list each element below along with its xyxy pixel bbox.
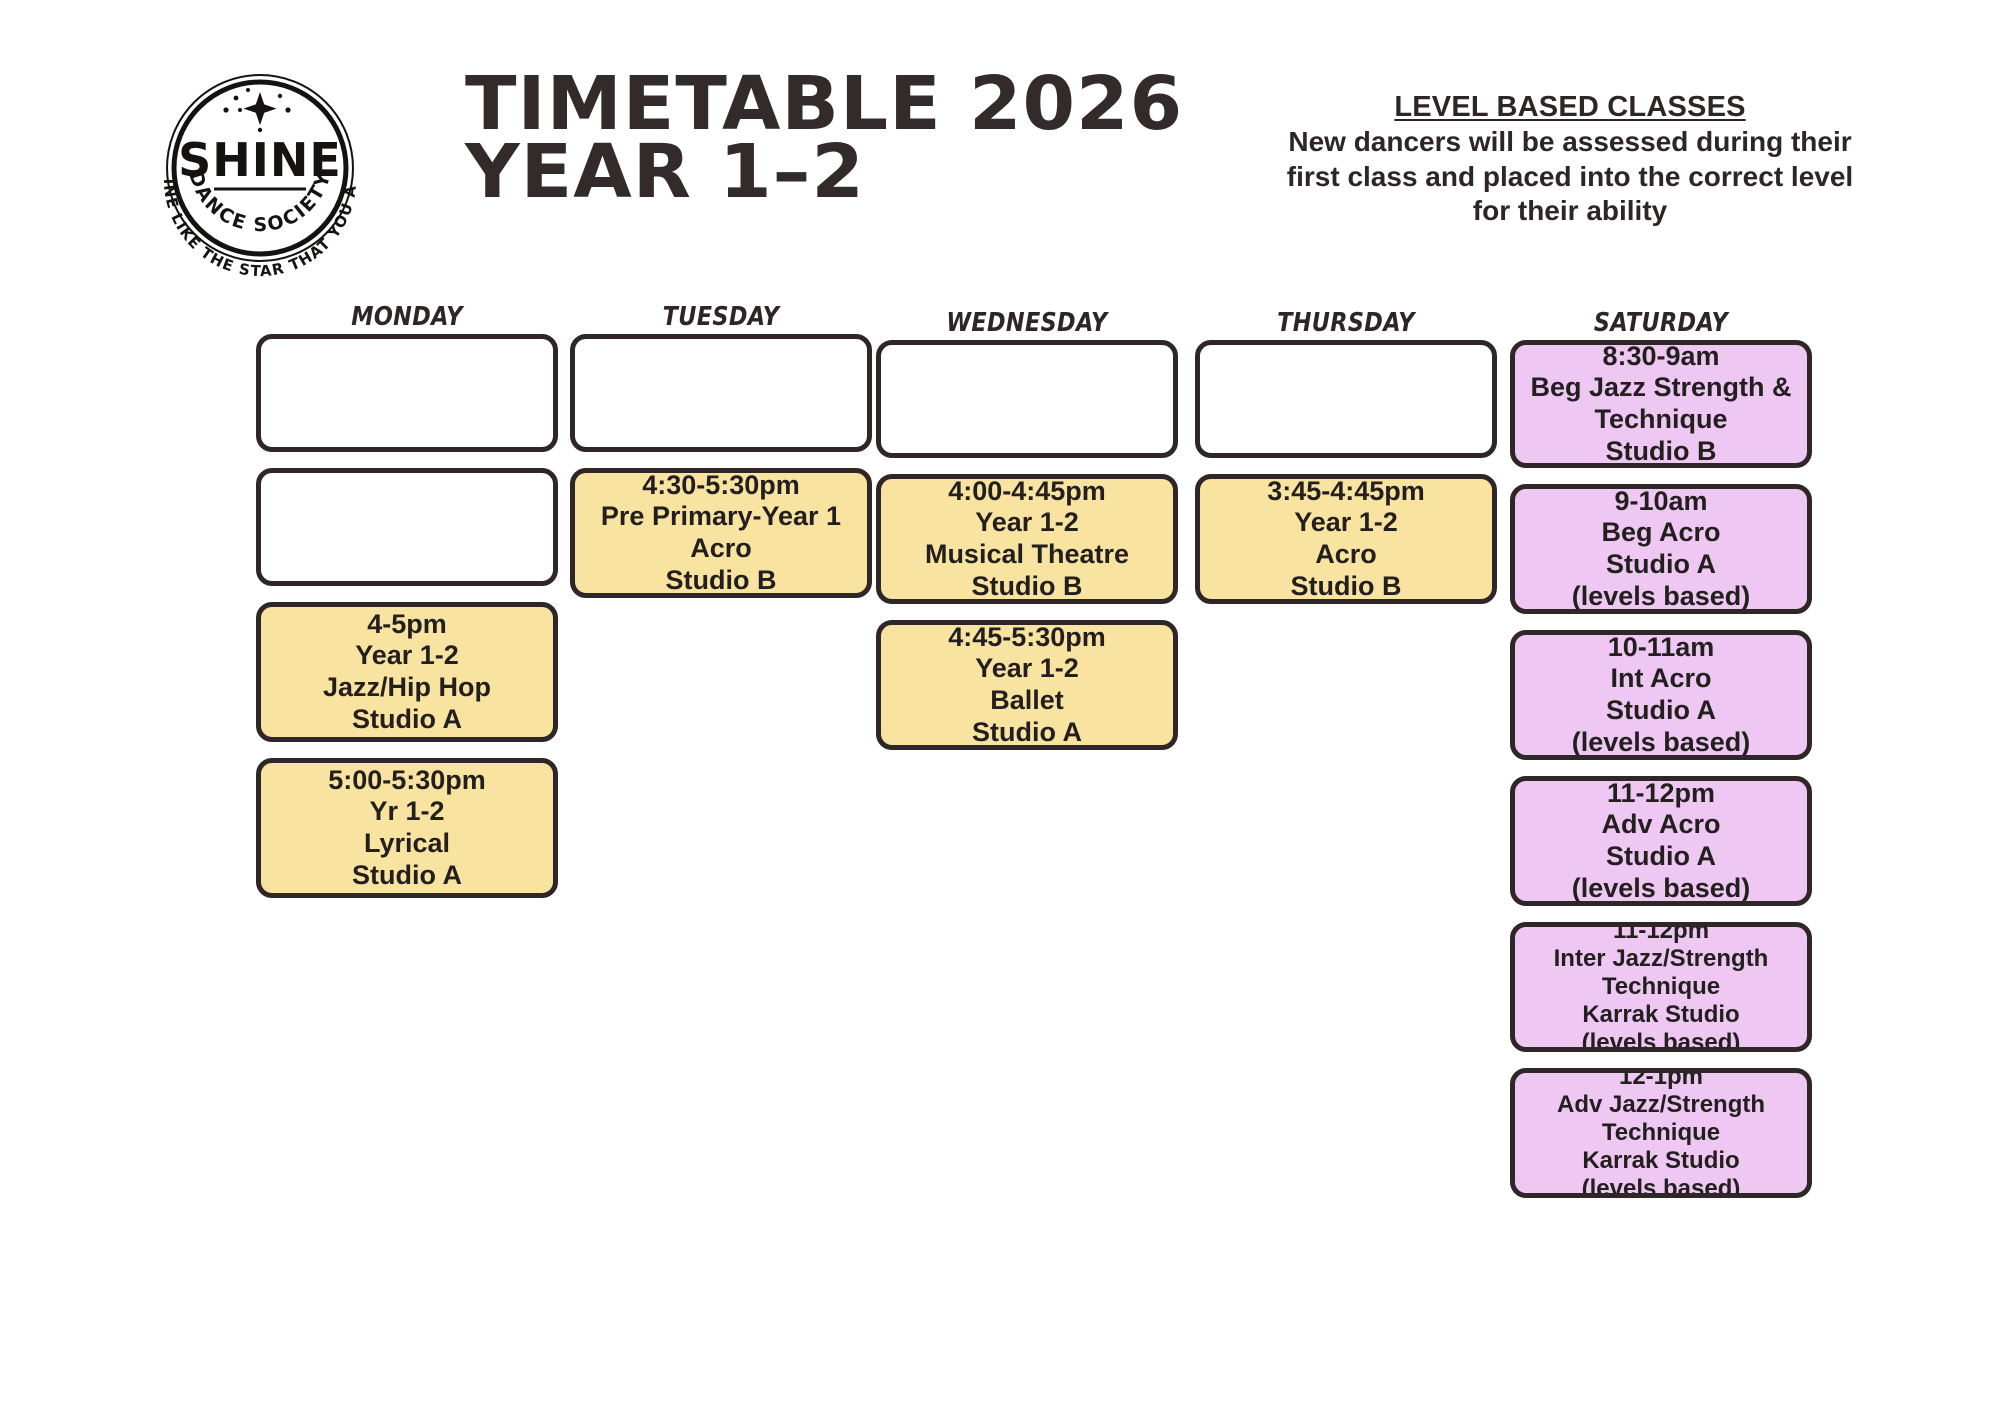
class-card-line: Studio A [352, 704, 462, 736]
day-cells: 4:00-4:45pmYear 1-2Musical TheatreStudio… [876, 340, 1178, 750]
empty-slot [256, 334, 558, 452]
day-header-monday: MONDAY [277, 300, 537, 334]
class-card-line: Year 1-2 [355, 640, 459, 672]
class-card-line: 4-5pm [367, 609, 447, 641]
day-cells: 3:45-4:45pmYear 1-2AcroStudio B [1195, 340, 1497, 604]
day-cells: 8:30-9amBeg Jazz Strength &TechniqueStud… [1510, 340, 1812, 1198]
class-card-line: Year 1-2 [975, 507, 1079, 539]
title-line-2: YEAR 1–2 [465, 138, 1240, 206]
class-card-line: (levels based) [1572, 727, 1751, 759]
class-card[interactable]: 11-12pmInter Jazz/StrengthTechniqueKarra… [1510, 922, 1812, 1052]
class-card-line: Beg Acro [1601, 517, 1720, 549]
class-card-line: Beg Jazz Strength & [1530, 372, 1791, 404]
class-card-line: Pre Primary-Year 1 [601, 501, 841, 533]
class-card-line: Technique [1594, 404, 1727, 436]
class-card-line: Studio A [352, 860, 462, 892]
class-card-line: 4:00-4:45pm [948, 476, 1106, 508]
day-column-monday: MONDAY4-5pmYear 1-2Jazz/Hip HopStudio A5… [256, 300, 558, 914]
class-card-line: (levels based) [1572, 581, 1751, 613]
class-card[interactable]: 12-1pmAdv Jazz/StrengthTechniqueKarrak S… [1510, 1068, 1812, 1198]
class-card-line: Studio B [666, 565, 777, 597]
class-card-line: Karrak Studio [1582, 1147, 1739, 1175]
class-card-line: 4:45-5:30pm [948, 622, 1106, 654]
page-title: TIMETABLE 2026 YEAR 1–2 [465, 70, 1225, 206]
class-card-line: (levels based) [1582, 1175, 1741, 1198]
day-column-wednesday: WEDNESDAY4:00-4:45pmYear 1-2Musical Thea… [876, 300, 1178, 766]
class-card-line: Ballet [990, 685, 1064, 717]
day-header-wednesday: WEDNESDAY [897, 306, 1157, 340]
class-card-line: 9-10am [1614, 486, 1707, 518]
shine-dance-society-logo: SHINE DANCE SOCIETY SHINE LIKE THE STAR … [140, 48, 380, 288]
notice-line-1: New dancers will be assessed during thei… [1255, 126, 1885, 158]
class-card-line: Year 1-2 [975, 653, 1079, 685]
empty-slot [876, 340, 1178, 458]
class-card-line: 11-12pm [1613, 922, 1709, 945]
class-card-line: Jazz/Hip Hop [323, 672, 491, 704]
class-card[interactable]: 10-11amInt AcroStudio A(levels based) [1510, 630, 1812, 760]
class-card-line: Year 1-2 [1294, 507, 1398, 539]
class-card-line: Adv Acro [1601, 809, 1720, 841]
notice-heading: LEVEL BASED CLASSES [1255, 90, 1885, 124]
class-card[interactable]: 11-12pmAdv AcroStudio A(levels based) [1510, 776, 1812, 906]
class-card[interactable]: 9-10amBeg AcroStudio A(levels based) [1510, 484, 1812, 614]
class-card-line: Studio A [972, 717, 1082, 749]
class-card-line: Studio A [1606, 695, 1716, 727]
day-column-saturday: SATURDAY8:30-9amBeg Jazz Strength &Techn… [1510, 300, 1812, 1214]
class-card-line: Acro [690, 533, 752, 565]
notice-line-2: first class and placed into the correct … [1255, 161, 1885, 193]
class-card-line: 11-12pm [1607, 778, 1715, 810]
class-card-line: Inter Jazz/Strength [1554, 945, 1769, 973]
class-card-line: 10-11am [1608, 632, 1715, 664]
day-column-tuesday: TUESDAY4:30-5:30pmPre Primary-Year 1Acro… [570, 300, 872, 614]
class-card-line: Studio B [1291, 571, 1402, 603]
timetable-grid: MONDAY4-5pmYear 1-2Jazz/Hip HopStudio A5… [0, 300, 2000, 1415]
class-card[interactable]: 8:30-9amBeg Jazz Strength &TechniqueStud… [1510, 340, 1812, 468]
class-card-line: Karrak Studio [1582, 1001, 1739, 1029]
empty-slot [570, 334, 872, 452]
class-card-line: Studio B [1606, 436, 1717, 468]
class-card-line: 8:30-9am [1602, 341, 1719, 373]
day-cells: 4:30-5:30pmPre Primary-Year 1AcroStudio … [570, 334, 872, 598]
day-header-saturday: SATURDAY [1531, 306, 1791, 340]
class-card[interactable]: 3:45-4:45pmYear 1-2AcroStudio B [1195, 474, 1497, 604]
class-card-line: Studio A [1606, 549, 1716, 581]
class-card-line: Musical Theatre [925, 539, 1129, 571]
day-header-thursday: THURSDAY [1216, 306, 1476, 340]
class-card[interactable]: 4:45-5:30pmYear 1-2BalletStudio A [876, 620, 1178, 750]
class-card-line: Acro [1315, 539, 1377, 571]
title-line-1: TIMETABLE 2026 [465, 70, 1240, 138]
class-card-line: Lyrical [364, 828, 450, 860]
class-card-line: 4:30-5:30pm [642, 470, 800, 502]
class-card[interactable]: 4:00-4:45pmYear 1-2Musical TheatreStudio… [876, 474, 1178, 604]
day-header-tuesday: TUESDAY [591, 300, 851, 334]
class-card-line: 5:00-5:30pm [328, 765, 486, 797]
notice-line-3: for their ability [1255, 195, 1885, 227]
class-card-line: (levels based) [1582, 1029, 1741, 1052]
page-header: SHINE DANCE SOCIETY SHINE LIKE THE STAR … [0, 0, 2000, 300]
empty-slot [1195, 340, 1497, 458]
empty-slot [256, 468, 558, 586]
class-card[interactable]: 4:30-5:30pmPre Primary-Year 1AcroStudio … [570, 468, 872, 598]
class-card-line: Studio A [1606, 841, 1716, 873]
class-card[interactable]: 4-5pmYear 1-2Jazz/Hip HopStudio A [256, 602, 558, 742]
class-card-line: Adv Jazz/Strength [1557, 1091, 1765, 1119]
class-card-line: Studio B [972, 571, 1083, 603]
level-based-classes-notice: LEVEL BASED CLASSES New dancers will be … [1255, 90, 1885, 228]
class-card-line: Technique [1602, 973, 1720, 1001]
logo-badge-icon: SHINE DANCE SOCIETY SHINE LIKE THE STAR … [140, 48, 380, 288]
class-card-line: (levels based) [1572, 873, 1751, 905]
day-cells: 4-5pmYear 1-2Jazz/Hip HopStudio A5:00-5:… [256, 334, 558, 898]
day-column-thursday: THURSDAY3:45-4:45pmYear 1-2AcroStudio B [1195, 300, 1497, 620]
class-card-line: Yr 1-2 [369, 796, 444, 828]
class-card-line: 12-1pm [1619, 1068, 1703, 1091]
class-card-line: Int Acro [1611, 663, 1712, 695]
class-card-line: 3:45-4:45pm [1267, 476, 1425, 508]
class-card[interactable]: 5:00-5:30pmYr 1-2LyricalStudio A [256, 758, 558, 898]
class-card-line: Technique [1602, 1119, 1720, 1147]
